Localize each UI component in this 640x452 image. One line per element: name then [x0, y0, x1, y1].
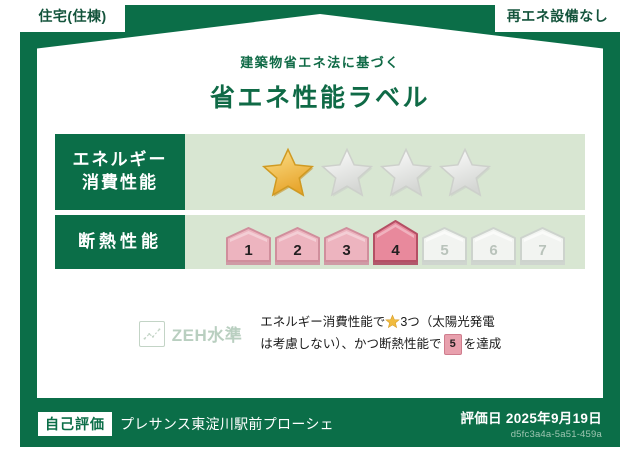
zeh-label: ZEH水準 — [172, 321, 243, 346]
insulation-level-2: 2 — [274, 227, 321, 265]
footer: 自己評価 プレサンス東淀川駅前プローシェ 評価日 2025年9月19日 d5fc… — [20, 400, 620, 447]
row-energy-label: エネルギー 消費性能 — [55, 134, 185, 210]
zeh-desc-part2: は考慮しない）、かつ断熱性能で — [260, 337, 441, 351]
performance-rows: エネルギー 消費性能 断熱性能 1234567 — [55, 134, 585, 274]
footer-left: 自己評価 プレサンス東淀川駅前プローシェ — [38, 412, 334, 436]
row-energy-body — [185, 134, 585, 210]
building-name: プレサンス東淀川駅前プローシェ — [120, 414, 334, 434]
zeh-desc-stars: 3つ（太陽光発電 — [400, 315, 494, 329]
row-insulation-label: 断熱性能 — [55, 215, 185, 269]
insulation-level-number: 4 — [372, 242, 419, 259]
badge-building-type: 住宅(住棟) — [20, 0, 125, 32]
badge-renewable-equipment: 再エネ設備なし — [495, 0, 620, 32]
title-subtitle: 建築物省エネ法に基づく — [0, 52, 640, 71]
row-energy-label-line1: エネルギー — [73, 149, 168, 172]
zeh-block: ZEH水準 エネルギー消費性能で3つ（太陽光発電は考慮しない）、かつ断熱性能で5… — [0, 312, 640, 356]
row-insulation-body: 1234567 — [185, 215, 585, 269]
star-empty-icon — [379, 146, 433, 198]
zeh-description: エネルギー消費性能で3つ（太陽光発電は考慮しない）、かつ断熱性能で5を達成 — [260, 312, 501, 356]
insulation-level-7: 7 — [519, 227, 566, 265]
evaluation-id: d5fc3a4a-5a51-459a — [460, 429, 602, 440]
insulation-level-number: 7 — [519, 242, 566, 259]
zeh-mark: ZEH水準 — [139, 321, 243, 347]
insulation-level-number: 5 — [421, 242, 468, 259]
evaluation-date: 評価日 2025年9月19日 — [460, 407, 602, 427]
insulation-level-6: 6 — [470, 227, 517, 265]
inline-star-icon — [385, 314, 400, 329]
insulation-level-5: 5 — [421, 227, 468, 265]
star-filled-icon — [261, 146, 315, 198]
insulation-level-number: 6 — [470, 242, 517, 259]
zeh-desc-part1: エネルギー消費性能で — [260, 315, 385, 329]
row-energy-performance: エネルギー 消費性能 — [55, 134, 585, 210]
title-block: 建築物省エネ法に基づく 省エネ性能ラベル — [0, 52, 640, 114]
insulation-level-1: 1 — [225, 227, 272, 265]
row-energy-label-line2: 消費性能 — [82, 172, 158, 195]
footer-right: 評価日 2025年9月19日 d5fc3a4a-5a51-459a — [460, 407, 602, 440]
star-empty-icon — [320, 146, 374, 198]
insulation-level-4: 4 — [372, 220, 419, 265]
zeh-desc-part3: を達成 — [464, 337, 502, 351]
row-insulation-performance: 断熱性能 1234567 — [55, 215, 585, 269]
star-rating — [261, 146, 492, 198]
insulation-level-3: 3 — [323, 227, 370, 265]
zeh-chart-icon — [139, 321, 165, 347]
energy-performance-label: 住宅(住棟) 再エネ設備なし 建築物省エネ法に基づく 省エネ性能ラベル エネルギ… — [0, 0, 640, 452]
title-main: 省エネ性能ラベル — [0, 78, 640, 114]
insulation-level-scale: 1234567 — [225, 220, 566, 265]
insulation-level-number: 3 — [323, 242, 370, 259]
zeh-desc-chip: 5 — [444, 334, 462, 355]
insulation-level-number: 1 — [225, 242, 272, 259]
self-evaluation-badge: 自己評価 — [38, 412, 112, 436]
star-empty-icon — [438, 146, 492, 198]
insulation-level-number: 2 — [274, 242, 321, 259]
